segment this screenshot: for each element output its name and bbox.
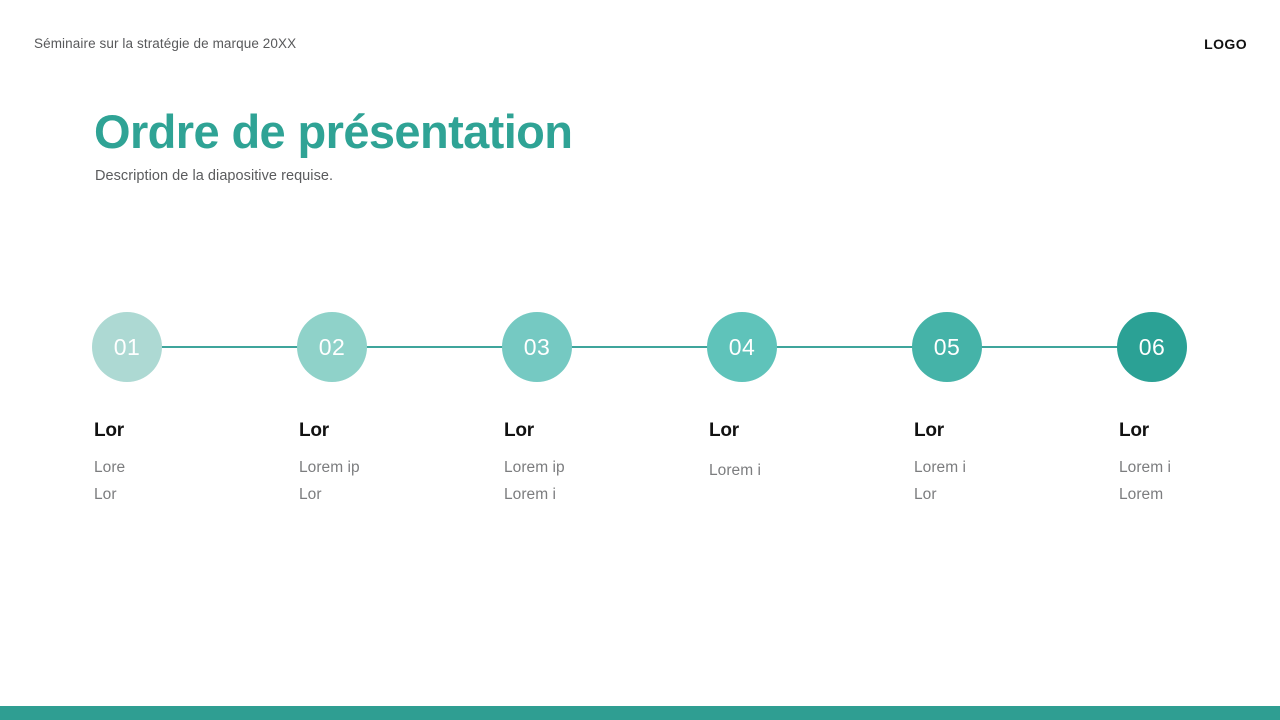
page-title: Ordre de présentation	[94, 104, 994, 160]
bottom-accent-bar	[0, 706, 1280, 720]
timeline-item-03: Lor Lorem ip Lorem i	[504, 420, 694, 508]
timeline-item-body: Lorem i Lor	[914, 454, 1104, 508]
timeline-item-body: Lorem i Lorem	[1119, 454, 1280, 508]
timeline-item-heading: Lor	[504, 420, 694, 442]
timeline-node-06[interactable]: 06	[1117, 312, 1187, 382]
timeline-node-number: 01	[114, 334, 141, 361]
timeline-item-body: Lorem ip Lor	[299, 454, 489, 508]
timeline-item-heading: Lor	[94, 420, 284, 442]
timeline-connector-line	[127, 346, 1152, 348]
slide-header: Séminaire sur la stratégie de marque 20X…	[0, 0, 1280, 70]
timeline-item-06: Lor Lorem i Lorem	[1119, 420, 1280, 508]
timeline-item-01: Lor Lore Lor	[94, 420, 284, 508]
timeline-node-04[interactable]: 04	[707, 312, 777, 382]
timeline-item-heading: Lor	[299, 420, 489, 442]
logo-placeholder: LOGO	[1204, 36, 1247, 52]
page-subtitle: Description de la diapositive requise.	[95, 168, 994, 184]
title-block: Ordre de présentation Description de la …	[94, 104, 994, 184]
timeline-node-number: 04	[729, 334, 756, 361]
timeline-node-number: 05	[934, 334, 961, 361]
timeline-item-body: Lorem i	[709, 457, 899, 484]
timeline-item-02: Lor Lorem ip Lor	[299, 420, 489, 508]
timeline-node-02[interactable]: 02	[297, 312, 367, 382]
timeline-item-heading: Lor	[709, 420, 899, 442]
timeline-node-number: 06	[1139, 334, 1166, 361]
timeline-node-03[interactable]: 03	[502, 312, 572, 382]
timeline-item-body: Lore Lor	[94, 454, 284, 508]
header-eyebrow-text: Séminaire sur la stratégie de marque 20X…	[34, 36, 296, 51]
timeline-item-heading: Lor	[914, 420, 1104, 442]
timeline-node-number: 03	[524, 334, 551, 361]
timeline-item-heading: Lor	[1119, 420, 1280, 442]
timeline-item-body: Lorem ip Lorem i	[504, 454, 694, 508]
timeline-item-05: Lor Lorem i Lor	[914, 420, 1104, 508]
timeline-node-05[interactable]: 05	[912, 312, 982, 382]
timeline-node-01[interactable]: 01	[92, 312, 162, 382]
timeline-node-number: 02	[319, 334, 346, 361]
timeline-item-04: Lor Lorem i	[709, 420, 899, 484]
